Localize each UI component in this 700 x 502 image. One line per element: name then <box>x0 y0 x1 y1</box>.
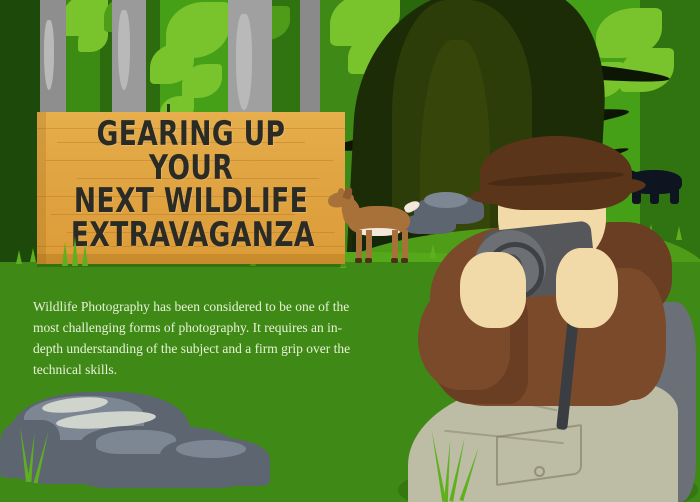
rock-highlight <box>176 440 246 458</box>
grass-tuft <box>82 244 88 266</box>
deer-hoof <box>401 258 408 263</box>
page-title: GEARING UP YOUR NEXT WILDLIFE EXTRAVAGAN… <box>71 118 311 253</box>
deer-leg <box>356 230 362 260</box>
photographer <box>468 130 700 502</box>
body-paragraph: Wildlife Photography has been considered… <box>33 296 353 380</box>
left-hand <box>460 252 526 328</box>
deer-hoof <box>365 258 372 263</box>
grass-tuft <box>16 250 22 264</box>
deer-hoof <box>391 258 398 263</box>
rock-highlight <box>424 192 468 208</box>
deer-tail <box>403 199 421 214</box>
wildlife-photography-poster: GEARING UP YOUR NEXT WILDLIFE EXTRAVAGAN… <box>0 0 700 502</box>
deer-hoof <box>355 258 362 263</box>
deer-leg <box>392 230 398 260</box>
deer-leg <box>402 230 408 260</box>
grass-tuft <box>62 242 68 266</box>
pocket-button <box>534 466 545 477</box>
right-hand <box>556 248 618 328</box>
deer-leg <box>366 230 372 260</box>
grass-tuft <box>30 248 36 262</box>
grass-tuft <box>72 236 78 266</box>
deer <box>326 190 422 270</box>
sign-edge-left <box>37 112 46 264</box>
grass-tuft <box>430 244 436 258</box>
